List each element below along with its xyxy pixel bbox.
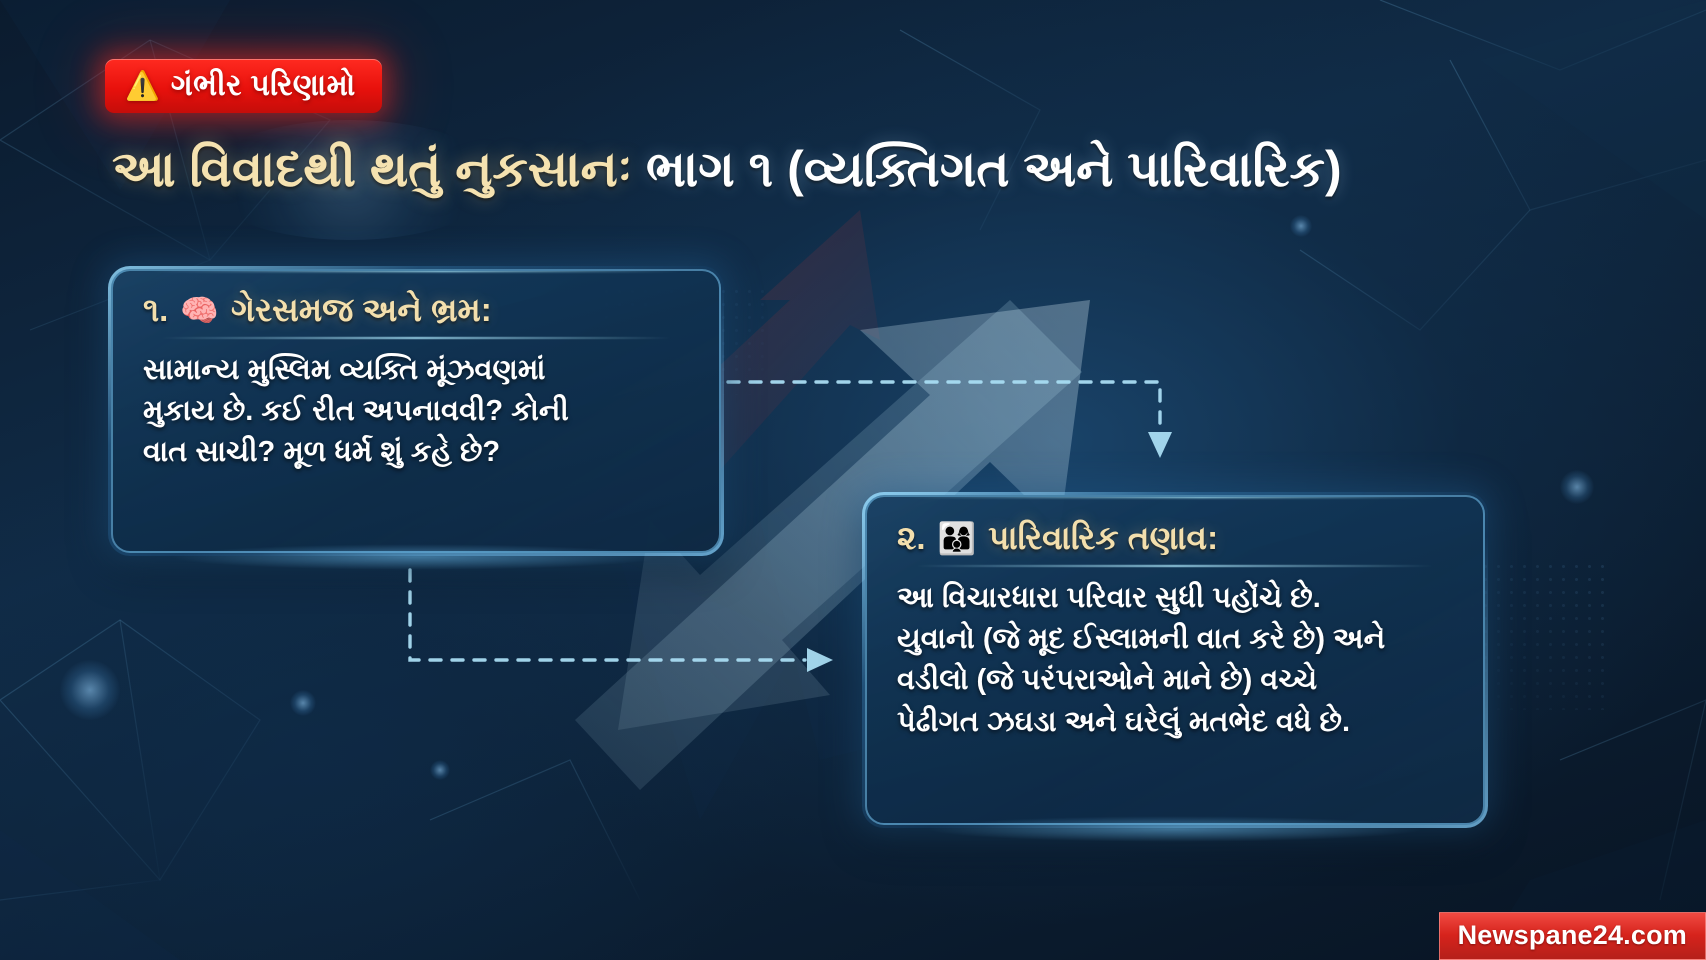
card-family-tension: ૨. 👨‍👩‍👦 પારિવારિક તણાવ: આ વિચારધારા પરિ… [862, 492, 1488, 828]
card-header-divider [916, 565, 1433, 567]
brain-emoji: 🧠 [180, 295, 219, 326]
card-number: ૨. [897, 519, 926, 558]
card-body-line: વાત સાચી? મૂળ ધર્મ શું કહે છે? [143, 432, 689, 473]
card-body-line: પેઢીગત ઝઘડા અને ઘરેલું મતભેદ વધે છે. [897, 702, 1453, 743]
card-family-tension-inner: ૨. 👨‍👩‍👦 પારિવારિક તણાવ: આ વિચારધારા પરિ… [865, 495, 1485, 825]
card-misunderstanding-inner: ૧. 🧠 ગેરસમજ અને ભ્રમ: સામાન્ય મુસ્લિમ વ્… [111, 269, 721, 553]
infographic-canvas: ⚠️ ગંભીર પરિણામો આ વિવાદથી થતું નુકસાનઃ … [0, 0, 1706, 960]
card-number: ૧. [143, 291, 168, 330]
severe-consequences-badge: ⚠️ ગંભીર પરિણામો [105, 59, 382, 113]
card-family-tension-header: ૨. 👨‍👩‍👦 પારિવારિક તણાવ: [867, 497, 1483, 558]
card-title: ગેરસમજ અને ભ્રમ: [231, 291, 492, 330]
watermark-newspane24[interactable]: Newspane24.com [1439, 912, 1706, 960]
card-misunderstanding: ૧. 🧠 ગેરસમજ અને ભ્રમ: સામાન્ય મુસ્લિમ વ્… [108, 266, 724, 556]
badge-label: ગંભીર પરિણામો [171, 69, 356, 103]
family-emoji: 👨‍👩‍👦 [938, 523, 977, 554]
warning-triangle-icon: ⚠️ [125, 72, 160, 100]
card-body-line: વડીલો (જે પરંપરાઓને માને છે) વચ્ચે [897, 660, 1453, 701]
page-title-white-part: ભાગ ૧ (વ્યક્તિગત અને પારિવારિક) [646, 141, 1342, 197]
card-body-line: યુવાનો (જે મૂદ ઈસ્લામની વાત કરે છે) અને [897, 619, 1453, 660]
card-body-line: સામાન્ય મુસ્લિમ વ્યક્તિ મૂંઝવણમાં [143, 350, 689, 391]
card-misunderstanding-header: ૧. 🧠 ગેરસમજ અને ભ્રમ: [113, 271, 719, 330]
card-header-divider [161, 337, 670, 339]
card-title: પારિવારિક તણાવ: [988, 519, 1218, 558]
connector-arrowhead-down [1148, 432, 1172, 458]
card-family-tension-body: આ વિચારધારા પરિવાર સુધી પહોંચે છે. યુવાન… [867, 558, 1483, 765]
card-body-line: આ વિચારધારા પરિવાર સુધી પહોંચે છે. [897, 578, 1453, 619]
page-title: આ વિવાદથી થતું નુકસાનઃ ભાગ ૧ (વ્યક્તિગત … [112, 140, 1592, 199]
page-title-gold-part: આ વિવાદથી થતું નુકસાનઃ [112, 141, 646, 197]
card-misunderstanding-body: સામાન્ય મુસ્લિમ વ્યક્તિ મૂંઝવણમાં મુકાય … [113, 330, 719, 496]
card-body-line: મુકાય છે. કઈ રીત અપનાવવી? કોની [143, 391, 689, 432]
